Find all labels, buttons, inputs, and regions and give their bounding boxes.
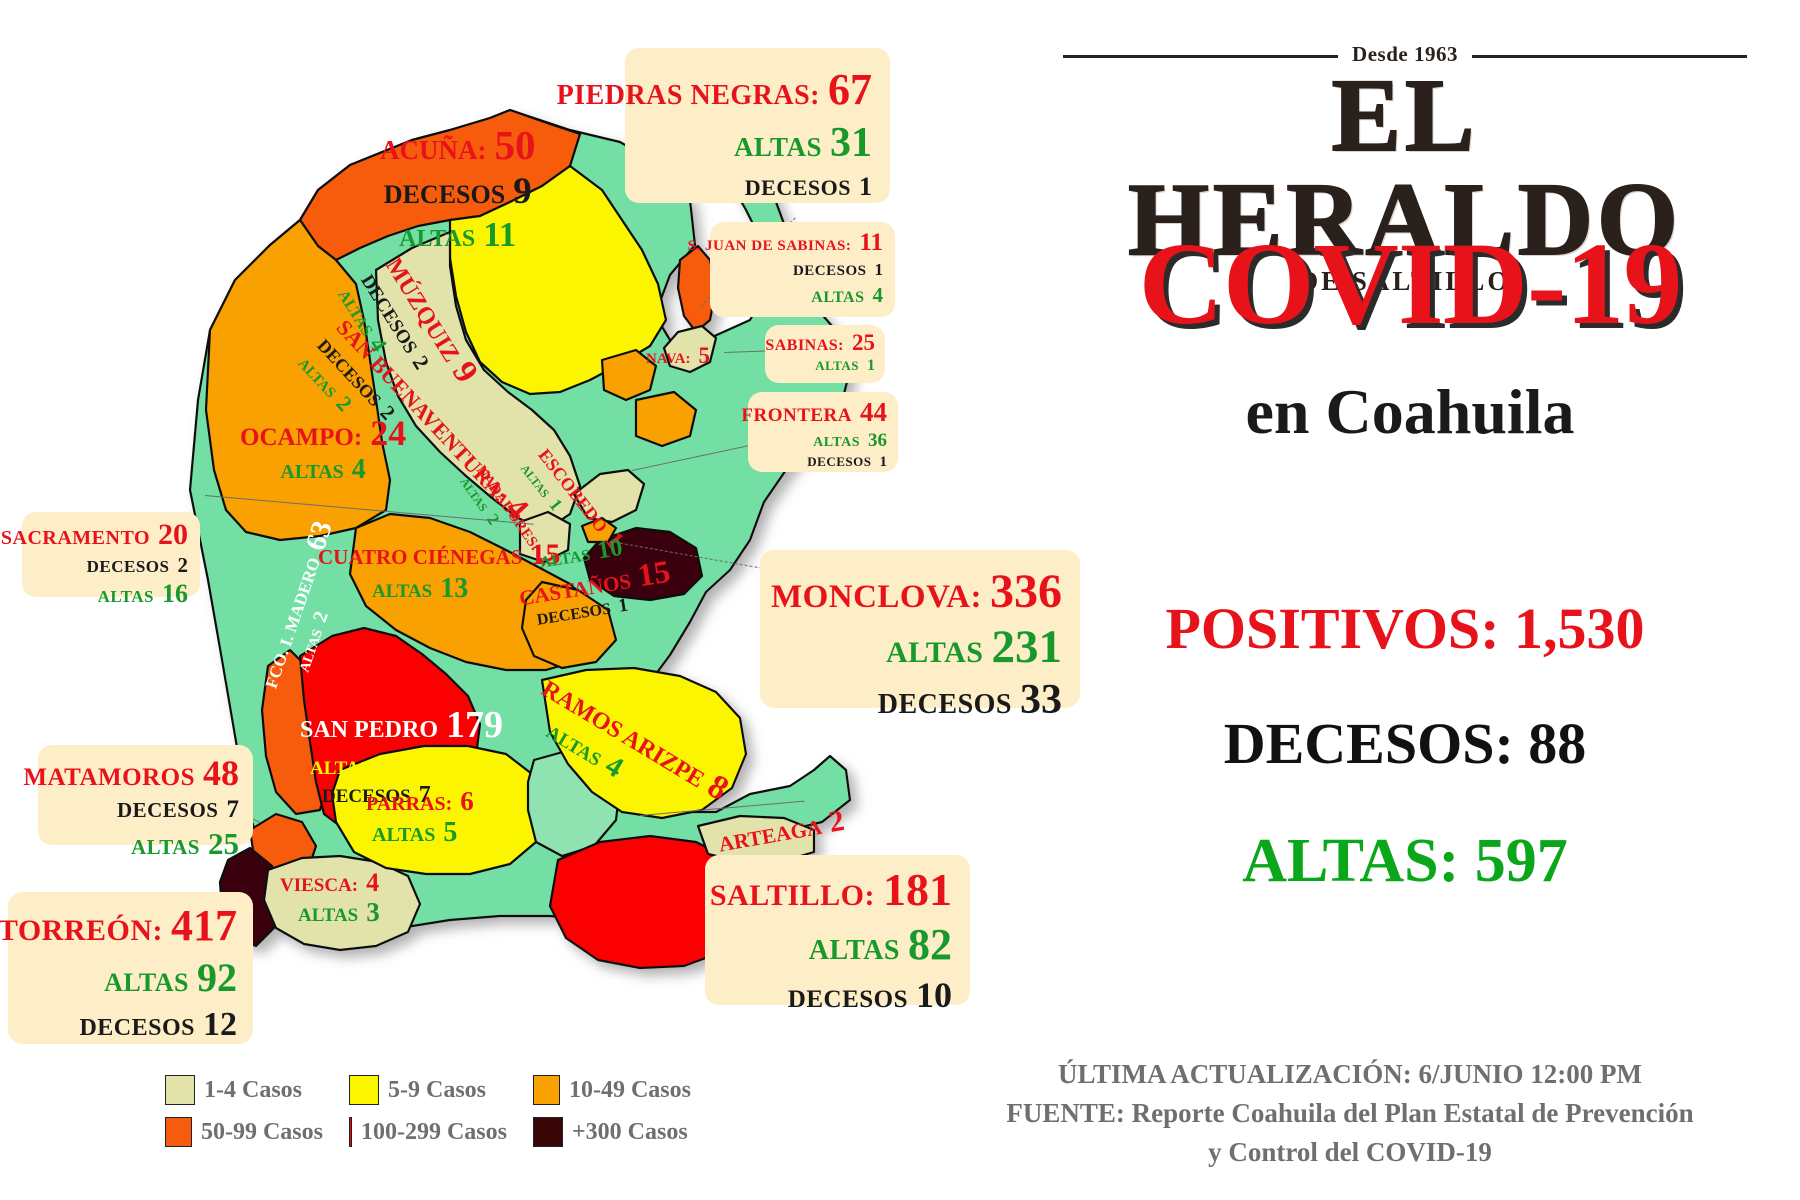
stat-decesos: DECESOS: 88 bbox=[975, 715, 1800, 773]
logo-since-text: Desde 1963 bbox=[1338, 42, 1472, 67]
stat-altas-value: 597 bbox=[1475, 827, 1568, 895]
callout-sabinas[interactable]: SABINAS:25 ALTAS1 bbox=[765, 325, 885, 383]
stat-positivos-label: POSITIVOS: bbox=[1165, 596, 1499, 661]
legend-item-100-299: 100-299 Casos bbox=[349, 1117, 507, 1147]
footer: ÚLTIMA ACTUALIZACIÓN: 6/JUNIO 12:00 PM F… bbox=[930, 1055, 1770, 1172]
legend-swatch-icon bbox=[533, 1075, 560, 1105]
callout-torreon[interactable]: TORREÓN:417 ALTAS92 DECESOS12 bbox=[8, 892, 253, 1044]
legend-swatch-icon bbox=[349, 1117, 352, 1147]
callout-san-juan-de-sabinas[interactable]: S. JUAN DE SABINAS:11 DECESOS1 ALTAS4 bbox=[710, 222, 895, 317]
logo-rule: Desde 1963 bbox=[1063, 55, 1747, 58]
legend-label: 10-49 Casos bbox=[569, 1077, 691, 1104]
callout-sacramento[interactable]: SACRAMENTO20 DECESOS2 ALTAS16 bbox=[22, 512, 200, 597]
legend-row-2: 50-99 Casos 100-299 Casos +300 Casos bbox=[165, 1117, 705, 1147]
legend-label: 5-9 Casos bbox=[388, 1077, 486, 1104]
callout-piedras-negras[interactable]: PIEDRAS NEGRAS:67 ALTAS31 DECESOS1 bbox=[625, 48, 890, 203]
footer-last-update: ÚLTIMA ACTUALIZACIÓN: 6/JUNIO 12:00 PM bbox=[930, 1055, 1770, 1094]
legend-label: 50-99 Casos bbox=[201, 1119, 323, 1146]
callout-frontera[interactable]: FRONTERA44 ALTAS36 DECESOS1 bbox=[748, 392, 898, 472]
legend-label: +300 Casos bbox=[572, 1119, 688, 1146]
legend-item-50-99: 50-99 Casos bbox=[165, 1117, 323, 1147]
footer-source-line2: y Control del COVID-19 bbox=[930, 1133, 1770, 1172]
region-parras bbox=[332, 746, 542, 874]
stat-altas-label: ALTAS: bbox=[1242, 827, 1459, 895]
legend-label: 100-299 Casos bbox=[361, 1119, 507, 1146]
footer-source-line1: FUENTE: Reporte Coahuila del Plan Estata… bbox=[930, 1094, 1770, 1133]
legend-item-300-plus: +300 Casos bbox=[533, 1117, 691, 1147]
stat-positivos: POSITIVOS: 1,530 bbox=[975, 600, 1800, 658]
stat-altas: ALTAS: 597 bbox=[975, 830, 1800, 892]
stat-decesos-label: DECESOS: bbox=[1224, 711, 1514, 776]
legend-item-5-9: 5-9 Casos bbox=[349, 1075, 507, 1105]
legend-swatch-icon bbox=[349, 1075, 379, 1105]
legend-row-1: 1-4 Casos 5-9 Casos 10-49 Casos bbox=[165, 1075, 705, 1105]
callout-saltillo[interactable]: SALTILLO:181 ALTAS82 DECESOS10 bbox=[705, 855, 970, 1005]
legend-item-10-49: 10-49 Casos bbox=[533, 1075, 691, 1105]
legend: 1-4 Casos 5-9 Casos 10-49 Casos 50-99 Ca… bbox=[165, 1075, 705, 1159]
stat-decesos-value: 88 bbox=[1528, 711, 1586, 776]
page-subtitle: en Coahuila bbox=[1010, 380, 1800, 444]
legend-item-1-4: 1-4 Casos bbox=[165, 1075, 323, 1105]
legend-swatch-icon bbox=[533, 1117, 563, 1147]
stat-positivos-value: 1,530 bbox=[1514, 596, 1645, 661]
legend-label: 1-4 Casos bbox=[204, 1077, 302, 1104]
legend-swatch-icon bbox=[165, 1117, 192, 1147]
page-title: COVID-19 bbox=[1010, 225, 1800, 343]
legend-swatch-icon bbox=[165, 1075, 195, 1105]
callout-matamoros[interactable]: MATAMOROS48 DECESOS7 ALTAS25 bbox=[38, 745, 253, 845]
